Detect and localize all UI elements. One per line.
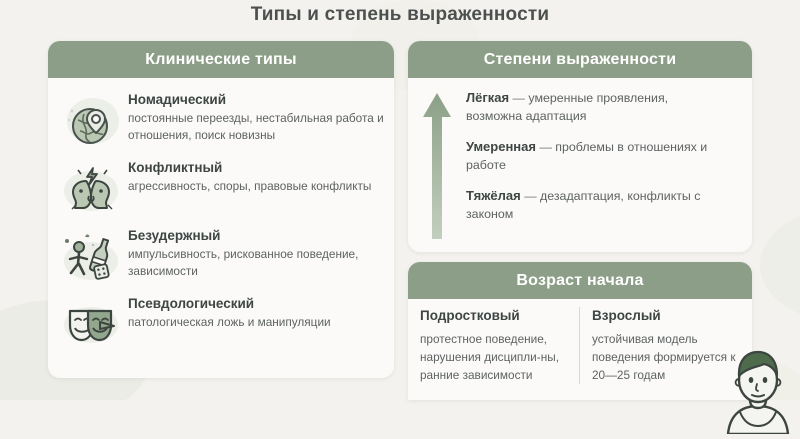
severity-label: Тяжёлая bbox=[466, 188, 521, 203]
list-item[interactable]: Номадический постоянные переезды, нестаб… bbox=[48, 84, 394, 152]
clinical-types-card: Клинические типы Номадический постоян bbox=[48, 41, 394, 378]
type-description: постоянные переезды, нестабильная работа… bbox=[128, 110, 384, 143]
severity-label: Лёгкая bbox=[466, 90, 509, 105]
severity-dash: — bbox=[539, 140, 551, 154]
list-item[interactable]: Псевдологический патологическая ложь и м… bbox=[48, 288, 394, 356]
type-name: Конфликтный bbox=[128, 159, 371, 176]
severity-levels-body: Лёгкая — умеренные проявления, возможна … bbox=[408, 78, 752, 252]
list-item[interactable]: Тяжёлая — дезадаптация, конфликты с зако… bbox=[466, 187, 724, 223]
theater-masks-icon bbox=[60, 291, 122, 353]
age-of-onset-card: Возраст начала Подростковый протестное п… bbox=[408, 262, 752, 400]
severity-dash: — bbox=[513, 91, 525, 105]
age-column-description: протестное поведение, нарушения дисципли… bbox=[420, 330, 567, 384]
clinical-types-header: Клинические типы bbox=[48, 41, 394, 78]
arguing-faces-icon bbox=[60, 155, 122, 217]
page-title: Типы и степень выраженности bbox=[0, 4, 800, 26]
severity-levels-list: Лёгкая — умеренные проявления, возможна … bbox=[466, 88, 724, 252]
up-arrow-icon bbox=[408, 88, 466, 252]
age-column-title: Взрослый bbox=[592, 307, 740, 325]
list-item-text: Псевдологический патологическая ложь и м… bbox=[122, 291, 331, 331]
age-column-description: устойчивая модель поведения формируется … bbox=[592, 330, 740, 384]
severity-line: Лёгкая — умеренные проявления, возможна … bbox=[466, 89, 724, 125]
severity-label: Умеренная bbox=[466, 139, 536, 154]
type-description: патологическая ложь и манипуляции bbox=[128, 314, 331, 331]
globe-pin-icon bbox=[60, 87, 122, 149]
type-name: Номадический bbox=[128, 91, 384, 108]
clinical-types-list: Номадический постоянные переезды, нестаб… bbox=[48, 78, 394, 356]
list-item[interactable]: Конфликтный агрессивность, споры, правов… bbox=[48, 152, 394, 220]
type-description: импульсивность, рискованное поведение, з… bbox=[128, 246, 384, 279]
type-name: Псевдологический bbox=[128, 295, 331, 312]
severity-line: Умеренная — проблемы в отношениях и рабо… bbox=[466, 138, 724, 174]
age-of-onset-body: Подростковый протестное поведение, наруш… bbox=[408, 299, 752, 384]
age-column-adult[interactable]: Взрослый устойчивая модель поведения фор… bbox=[580, 307, 752, 384]
list-item-text: Номадический постоянные переезды, нестаб… bbox=[122, 87, 384, 143]
age-column-adolescent[interactable]: Подростковый протестное поведение, наруш… bbox=[408, 307, 580, 384]
severity-dash: — bbox=[524, 189, 536, 203]
type-description: агрессивность, споры, правовые конфликты bbox=[128, 178, 371, 195]
severity-levels-header: Степени выраженности bbox=[408, 41, 752, 78]
type-name: Безудержный bbox=[128, 227, 384, 244]
age-of-onset-header: Возраст начала bbox=[408, 262, 752, 299]
list-item-text: Безудержный импульсивность, рискованное … bbox=[122, 223, 384, 279]
list-item[interactable]: Умеренная — проблемы в отношениях и рабо… bbox=[466, 138, 724, 174]
list-item[interactable]: Лёгкая — умеренные проявления, возможна … bbox=[466, 89, 724, 125]
list-item[interactable]: Безудержный импульсивность, рискованное … bbox=[48, 220, 394, 288]
severity-levels-card: Степени выраженности Лёгкая — умеренные … bbox=[408, 41, 752, 252]
age-column-title: Подростковый bbox=[420, 307, 567, 325]
list-item-text: Конфликтный агрессивность, споры, правов… bbox=[122, 155, 371, 195]
severity-line: Тяжёлая — дезадаптация, конфликты с зако… bbox=[466, 187, 724, 223]
background-blob bbox=[760, 210, 800, 320]
running-bottle-dice-icon bbox=[60, 223, 122, 285]
